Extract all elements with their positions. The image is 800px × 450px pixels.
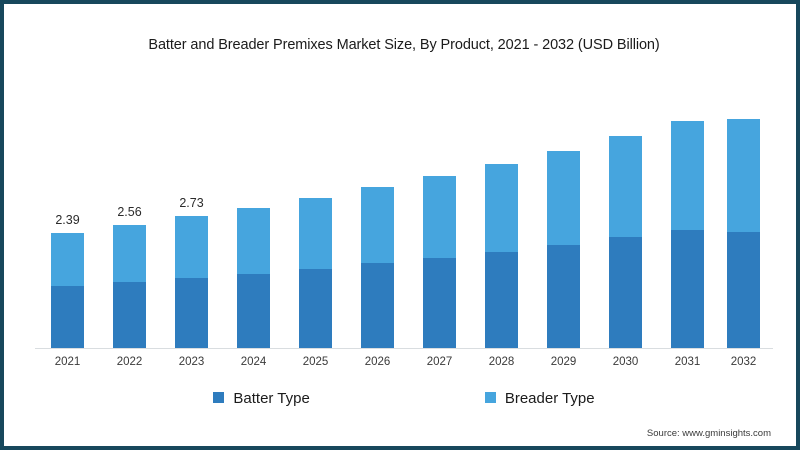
bar-value-label-2021: 2.39 <box>55 213 79 227</box>
bar-segment-batter-2026 <box>361 263 394 348</box>
bar-segment-batter-2027 <box>423 258 456 348</box>
bar-2029 <box>547 151 580 348</box>
bar-segment-batter-2028 <box>485 252 518 348</box>
bar-2030 <box>609 136 642 348</box>
bar-segment-breader-2023 <box>175 216 208 278</box>
bar-2027 <box>423 176 456 348</box>
bar-2025 <box>299 198 332 348</box>
bar-segment-batter-2025 <box>299 269 332 348</box>
bar-2022: 2.56 <box>113 225 146 348</box>
bar-segment-breader-2025 <box>299 198 332 269</box>
bar-2021: 2.39 <box>51 233 84 348</box>
bar-2031 <box>671 121 704 348</box>
bar-segment-breader-2027 <box>423 176 456 258</box>
legend-label: Breader Type <box>505 390 595 407</box>
bar-value-label-2022: 2.56 <box>117 205 141 219</box>
x-tick-2030: 2030 <box>609 356 642 368</box>
x-tick-2024: 2024 <box>237 356 270 368</box>
legend-item-breader-type[interactable]: Breader Type <box>485 390 595 408</box>
bar-segment-breader-2029 <box>547 151 580 245</box>
bar-value-label-2023: 2.73 <box>179 196 203 210</box>
bar-segment-breader-2028 <box>485 164 518 252</box>
bar-segment-batter-2029 <box>547 245 580 348</box>
source-attribution: Source: www.gminsights.com <box>647 428 771 439</box>
chart-frame: Batter and Breader Premixes Market Size,… <box>0 0 800 450</box>
bar-segment-breader-2026 <box>361 187 394 263</box>
x-tick-2032: 2032 <box>727 356 760 368</box>
legend-label: Batter Type <box>233 390 309 407</box>
bar-segment-breader-2024 <box>237 208 270 274</box>
chart-legend: Batter TypeBreader Type <box>4 390 800 408</box>
x-tick-2023: 2023 <box>175 356 208 368</box>
bar-segment-breader-2031 <box>671 121 704 230</box>
bar-segment-breader-2030 <box>609 136 642 237</box>
plot-area: 2.392.562.73 202120222023202420252026202… <box>4 4 800 450</box>
bar-segment-breader-2022 <box>113 225 146 282</box>
bar-segment-batter-2024 <box>237 274 270 348</box>
bar-segment-batter-2021 <box>51 286 84 348</box>
bar-2026 <box>361 187 394 348</box>
x-tick-2029: 2029 <box>547 356 580 368</box>
x-tick-2021: 2021 <box>51 356 84 368</box>
bar-segment-breader-2021 <box>51 233 84 286</box>
bar-2028 <box>485 164 518 348</box>
bar-segment-batter-2032 <box>727 232 760 348</box>
x-tick-2031: 2031 <box>671 356 704 368</box>
x-axis-line <box>35 348 773 349</box>
legend-item-batter-type[interactable]: Batter Type <box>213 390 309 408</box>
bar-2024 <box>237 208 270 348</box>
x-tick-2026: 2026 <box>361 356 394 368</box>
bar-segment-batter-2022 <box>113 282 146 348</box>
bar-2023: 2.73 <box>175 216 208 348</box>
x-tick-2025: 2025 <box>299 356 332 368</box>
bar-2032 <box>727 119 760 348</box>
legend-swatch-icon <box>213 392 224 403</box>
bar-segment-batter-2023 <box>175 278 208 348</box>
x-tick-2027: 2027 <box>423 356 456 368</box>
bar-segment-breader-2032 <box>727 119 760 232</box>
bar-segment-batter-2031 <box>671 230 704 348</box>
x-tick-2028: 2028 <box>485 356 518 368</box>
legend-swatch-icon <box>485 392 496 403</box>
x-tick-2022: 2022 <box>113 356 146 368</box>
bar-segment-batter-2030 <box>609 237 642 348</box>
